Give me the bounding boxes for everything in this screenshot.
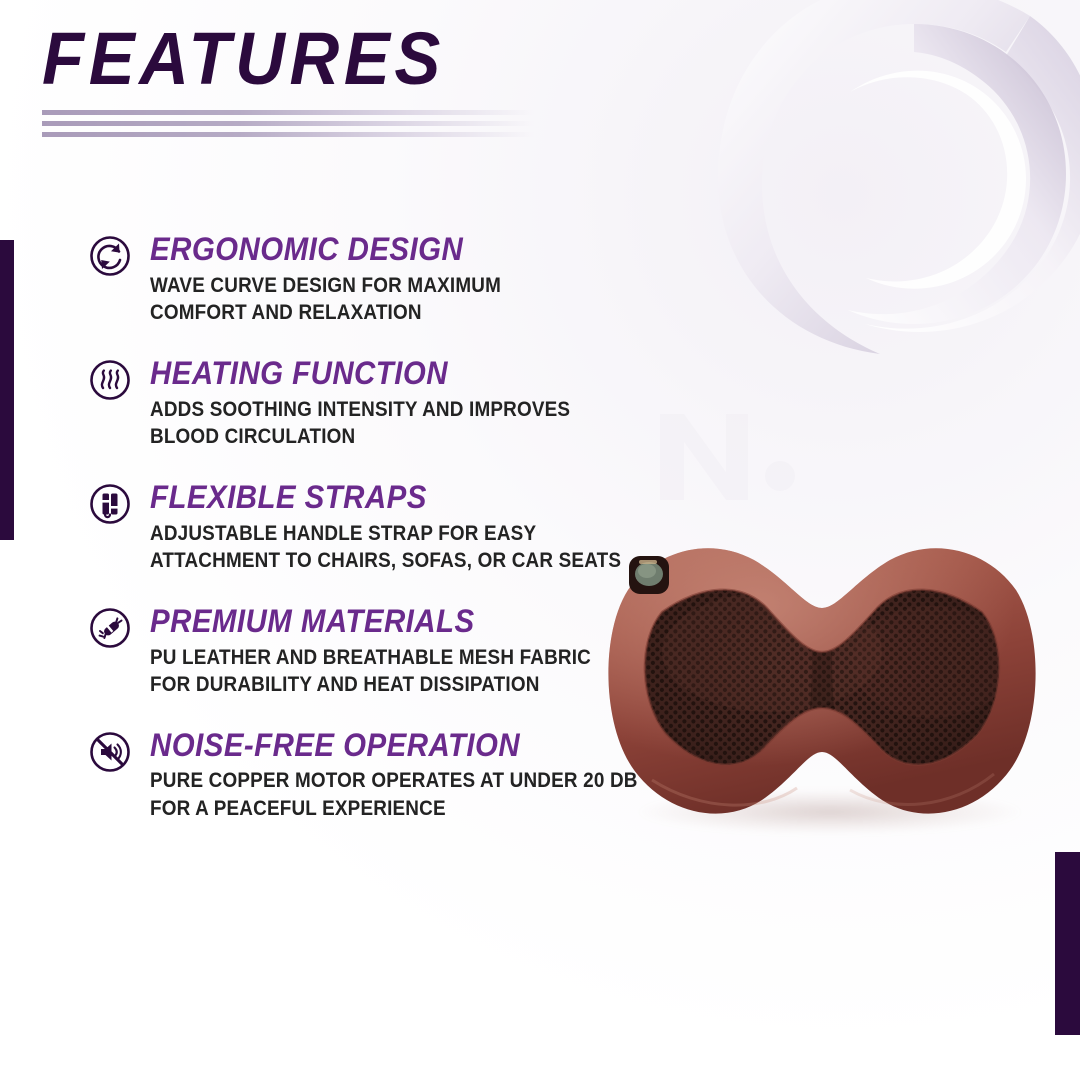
feature-description: ADDS SOOTHING INTENSITY AND IMPROVES BLO… [150, 396, 571, 451]
power-button [629, 556, 669, 594]
feature-list: ERGONOMIC DESIGN WAVE CURVE DESIGN FOR M… [88, 232, 618, 852]
left-accent-bar [0, 240, 14, 540]
feature-text-block: ERGONOMIC DESIGN WAVE CURVE DESIGN FOR M… [150, 232, 618, 327]
feature-item-premium-materials: PREMIUM MATERIALS PU LEATHER AND BREATHA… [88, 604, 618, 699]
feature-title: HEATING FUNCTION [150, 356, 581, 391]
feature-item-noise-free-operation: NOISE-FREE OPERATION PURE COPPER MOTOR O… [88, 728, 618, 823]
feature-desc-line: PURE COPPER MOTOR OPERATES AT UNDER 20 D… [150, 767, 638, 795]
feature-text-block: HEATING FUNCTION ADDS SOOTHING INTENSITY… [150, 356, 618, 451]
feature-desc-line: FOR A PEACEFUL EXPERIENCE [150, 795, 638, 823]
title-rule-3 [42, 132, 534, 137]
feature-desc-line: WAVE CURVE DESIGN FOR MAXIMUM [150, 272, 571, 300]
feature-title: FLEXIBLE STRAPS [150, 480, 632, 515]
feature-description: WAVE CURVE DESIGN FOR MAXIMUM COMFORT AN… [150, 272, 571, 327]
straps-icon [88, 482, 132, 526]
feature-desc-line: COMFORT AND RELAXATION [150, 299, 571, 327]
feature-item-heating-function: HEATING FUNCTION ADDS SOOTHING INTENSITY… [88, 356, 618, 451]
feature-text-block: PREMIUM MATERIALS PU LEATHER AND BREATHA… [150, 604, 640, 699]
feature-title: PREMIUM MATERIALS [150, 604, 601, 639]
page-title-block: FEATURES [42, 22, 534, 143]
right-accent-bar [1055, 852, 1080, 1035]
title-rule-1 [42, 110, 534, 115]
rotate-arrow-icon [88, 234, 132, 278]
feature-title: NOISE-FREE OPERATION [150, 728, 648, 763]
feature-desc-line: BLOOD CIRCULATION [150, 423, 571, 451]
feature-desc-line: FOR DURABILITY AND HEAT DISSIPATION [150, 671, 591, 699]
heat-waves-icon [88, 358, 132, 402]
feature-desc-line: ADDS SOOTHING INTENSITY AND IMPROVES [150, 396, 571, 424]
mute-speaker-icon [88, 730, 132, 774]
title-underline-rules [42, 110, 534, 137]
feature-desc-line: ATTACHMENT TO CHAIRS, SOFAS, OR CAR SEAT… [150, 547, 621, 575]
feature-title: ERGONOMIC DESIGN [150, 232, 581, 267]
feature-item-flexible-straps: FLEXIBLE STRAPS ADJUSTABLE HANDLE STRAP … [88, 480, 618, 575]
material-capsule-icon [88, 606, 132, 650]
product-image-massage-pillow [592, 512, 1052, 842]
feature-description: PU LEATHER AND BREATHABLE MESH FABRIC FO… [150, 644, 591, 699]
page-title: FEATURES [42, 22, 500, 96]
abstract-spiral-ribbon-icon [690, 0, 1080, 390]
feature-desc-line: PU LEATHER AND BREATHABLE MESH FABRIC [150, 644, 591, 672]
feature-description: PURE COPPER MOTOR OPERATES AT UNDER 20 D… [150, 767, 638, 822]
title-rule-2 [42, 121, 534, 126]
feature-item-ergonomic-design: ERGONOMIC DESIGN WAVE CURVE DESIGN FOR M… [88, 232, 618, 327]
features-infographic: FEATURES ERGONOMIC DESIGN WAVE CURVE D [0, 0, 1080, 1080]
feature-desc-line: ADJUSTABLE HANDLE STRAP FOR EASY [150, 520, 621, 548]
feature-description: ADJUSTABLE HANDLE STRAP FOR EASY ATTACHM… [150, 520, 621, 575]
